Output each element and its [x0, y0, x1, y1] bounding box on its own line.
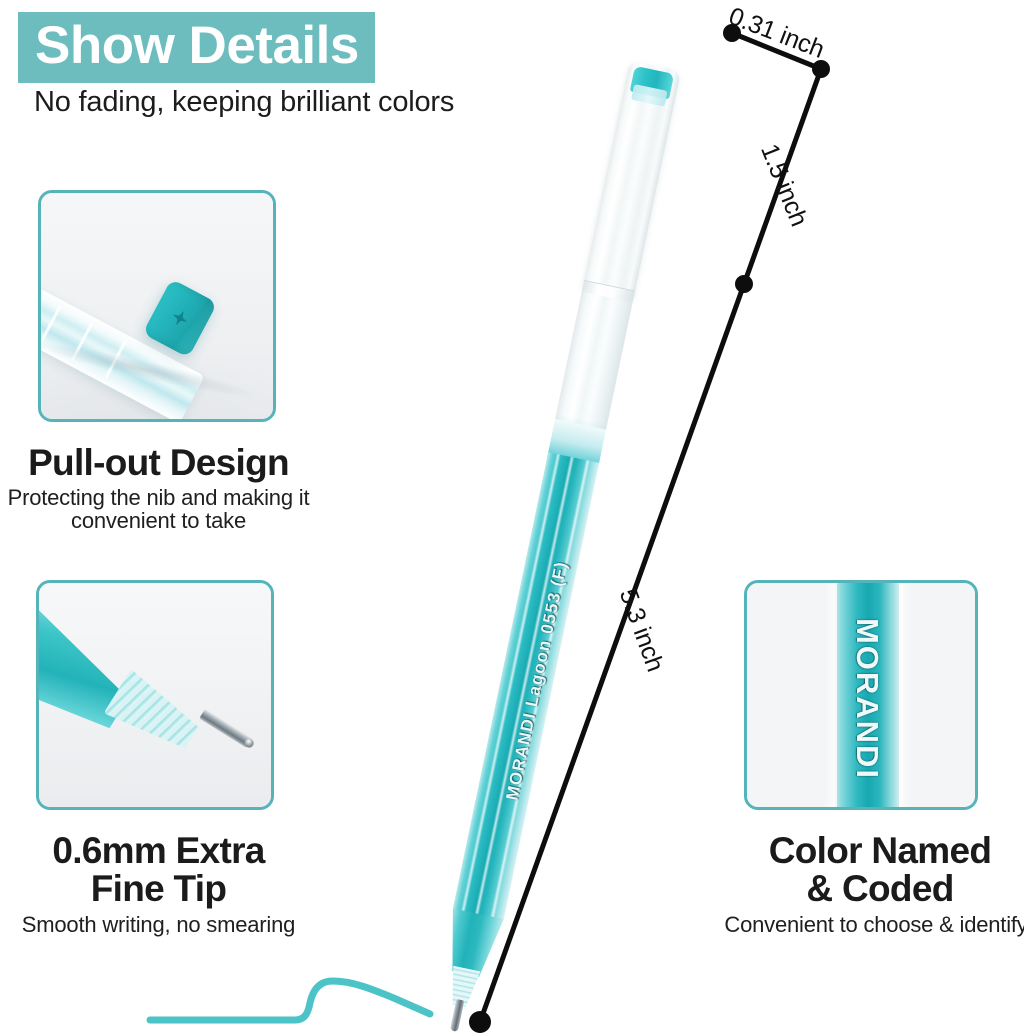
feature-photo-extra-fine-tip [36, 580, 274, 810]
feature-subtitle-extra-fine-tip: Smooth writing, no smearing [0, 914, 331, 937]
header-subtitle: No fading, keeping brilliant colors [34, 86, 518, 119]
pen-illustration: MORANDI Lagoon 0553 (F) [437, 61, 681, 998]
pen-nose-cone [440, 908, 504, 979]
dimension-label-cap-length: 1.5 inch [754, 140, 813, 231]
pen-barrel-brand-label: MORANDI [835, 580, 899, 810]
feature-title-line-2: & Coded [730, 870, 1024, 908]
dimension-dot-cap-left [723, 24, 741, 42]
dimension-dot-pen-bottom [469, 1011, 491, 1033]
ink-path [150, 981, 430, 1020]
feature-title-line-1: 0.6mm Extra [0, 832, 331, 870]
feature-title-pull-out-design: Pull-out Design [0, 444, 331, 482]
feature-subtitle-color-named-coded: Convenient to choose & identify [716, 914, 1024, 937]
feature-card-color-named-coded: MORANDI Color Named & Coded Convenient t… [744, 580, 1024, 937]
feature-subtitle-pull-out-design: Protecting the nib and making it conveni… [0, 487, 331, 533]
feature-title-line-1: Color Named [730, 832, 1024, 870]
cap-width-line [732, 33, 821, 69]
feature-title-color-named-coded: Color Named & Coded [730, 832, 1024, 908]
feature-photo-pull-out-design [38, 190, 276, 422]
dimension-dot-cap-right [812, 60, 830, 78]
feature-photo-color-named-coded: MORANDI [744, 580, 978, 810]
feature-subtitle-line-1: Protecting the nib and making it [0, 487, 331, 510]
feature-subtitle-line-2: convenient to take [0, 510, 331, 533]
feature-title-line-2: Fine Tip [0, 870, 331, 908]
dimension-label-pen-length: 5.3 inch [613, 585, 670, 676]
feature-card-extra-fine-tip: 0.6mm Extra Fine Tip Smooth writing, no … [34, 580, 376, 937]
page-title: Show Details [18, 12, 375, 83]
pen-nib [450, 999, 464, 1032]
pen-clear-barrel [555, 292, 632, 430]
feature-card-pull-out-design: Pull-out Design Protecting the nib and m… [34, 190, 376, 533]
feature-title-extra-fine-tip: 0.6mm Extra Fine Tip [0, 832, 331, 908]
dimension-dot-cap-bottom [735, 275, 753, 293]
pen-teal-barrel [453, 452, 600, 921]
header: Show Details No fading, keeping brillian… [18, 12, 518, 119]
pen-barrel-brand-text: MORANDI [849, 618, 885, 780]
product-detail-infographic: Show Details No fading, keeping brillian… [0, 0, 1024, 1035]
dimension-label-cap-width: 0.31 inch [725, 2, 828, 65]
